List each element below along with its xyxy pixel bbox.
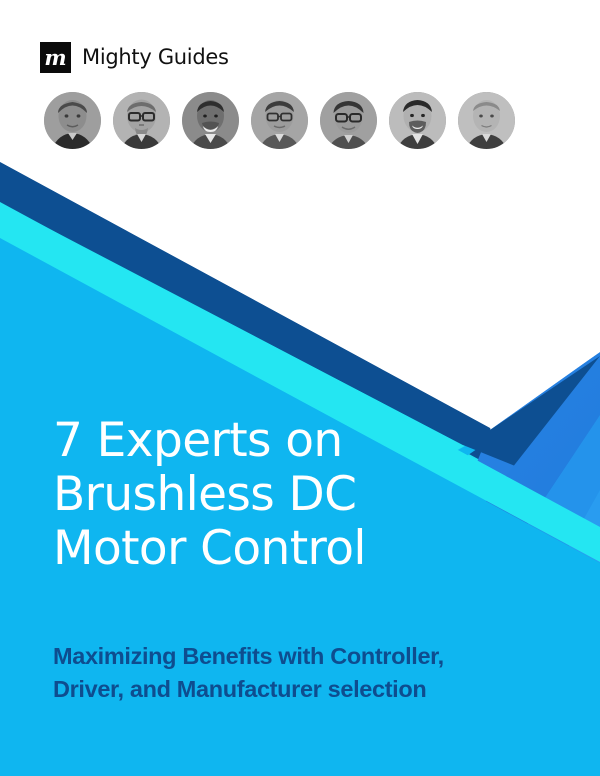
expert-avatar-5 xyxy=(320,92,377,149)
subtitle-line-1: Maximizing Benefits with Controller, xyxy=(53,640,583,673)
expert-avatar-6 xyxy=(389,92,446,149)
expert-avatar-row xyxy=(44,92,515,149)
cover-title: 7 Experts on Brushless DC Motor Control xyxy=(53,414,573,576)
final-navy-stripe xyxy=(0,162,490,445)
expert-avatar-1 xyxy=(44,92,101,149)
expert-avatar-2 xyxy=(113,92,170,149)
expert-avatar-7 xyxy=(458,92,515,149)
mighty-guides-m-monogram-icon: m xyxy=(40,42,71,73)
ebook-cover-page: m Mighty Guides xyxy=(0,0,600,776)
brand-name: Mighty Guides xyxy=(82,47,229,68)
subtitle-line-2: Driver, and Manufacturer selection xyxy=(53,673,583,706)
brand-logo[interactable]: m Mighty Guides xyxy=(40,42,229,73)
title-line-3: Motor Control xyxy=(53,522,573,576)
expert-avatar-3 xyxy=(182,92,239,149)
cover-subtitle: Maximizing Benefits with Controller, Dri… xyxy=(53,640,583,706)
svg-text:m: m xyxy=(44,45,66,70)
expert-avatar-4 xyxy=(251,92,308,149)
title-line-1: 7 Experts on xyxy=(53,414,573,468)
title-line-2: Brushless DC xyxy=(53,468,573,522)
cover-header: m Mighty Guides xyxy=(0,0,600,163)
navy-diagonal-band-top xyxy=(0,163,489,444)
white-v-wedge xyxy=(489,155,600,433)
navy-band-final xyxy=(0,163,491,445)
